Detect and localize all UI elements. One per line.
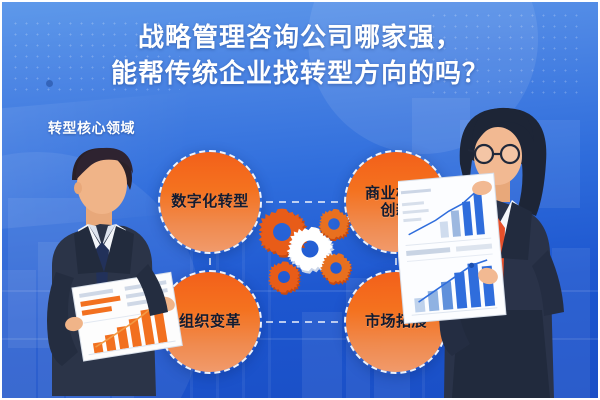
poster-canvas: 战略管理咨询公司哪家强， 能帮传统企业找转型方向的吗？ 转型核心领域 数字化转型… <box>0 0 600 400</box>
businessman-illustration <box>8 138 198 398</box>
businesswoman-illustration <box>398 98 598 398</box>
document-with-chart <box>398 173 506 323</box>
gears-icon <box>254 198 364 308</box>
document-with-chart <box>72 272 182 361</box>
